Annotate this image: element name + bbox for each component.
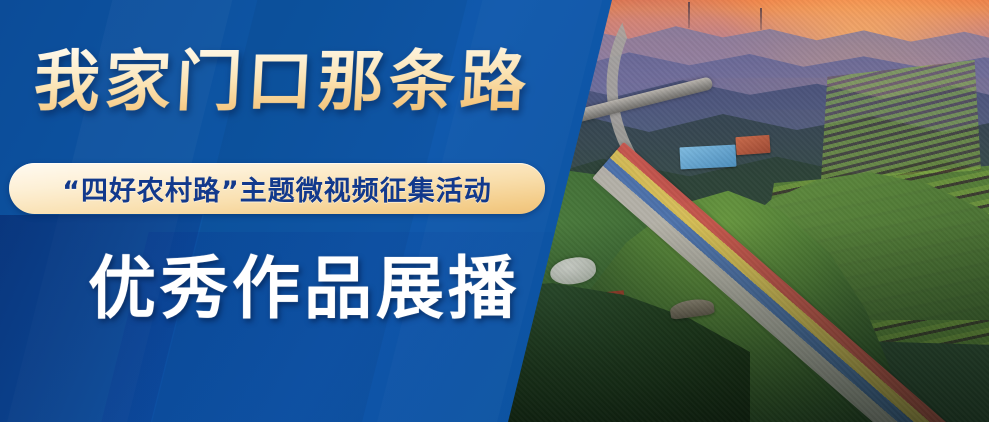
promotional-banner: 我家门口那条路 “四好农村路”主题微视频征集活动 优秀作品展播 — [0, 0, 989, 422]
banner-content: 我家门口那条路 “四好农村路”主题微视频征集活动 优秀作品展播 — [0, 0, 989, 422]
subtitle-pill: “四好农村路”主题微视频征集活动 — [9, 163, 545, 214]
banner-headline: 优秀作品展播 — [88, 253, 520, 325]
subtitle-pill-label: “四好农村路”主题微视频征集活动 — [62, 169, 492, 208]
banner-title: 我家门口那条路 — [32, 46, 556, 117]
